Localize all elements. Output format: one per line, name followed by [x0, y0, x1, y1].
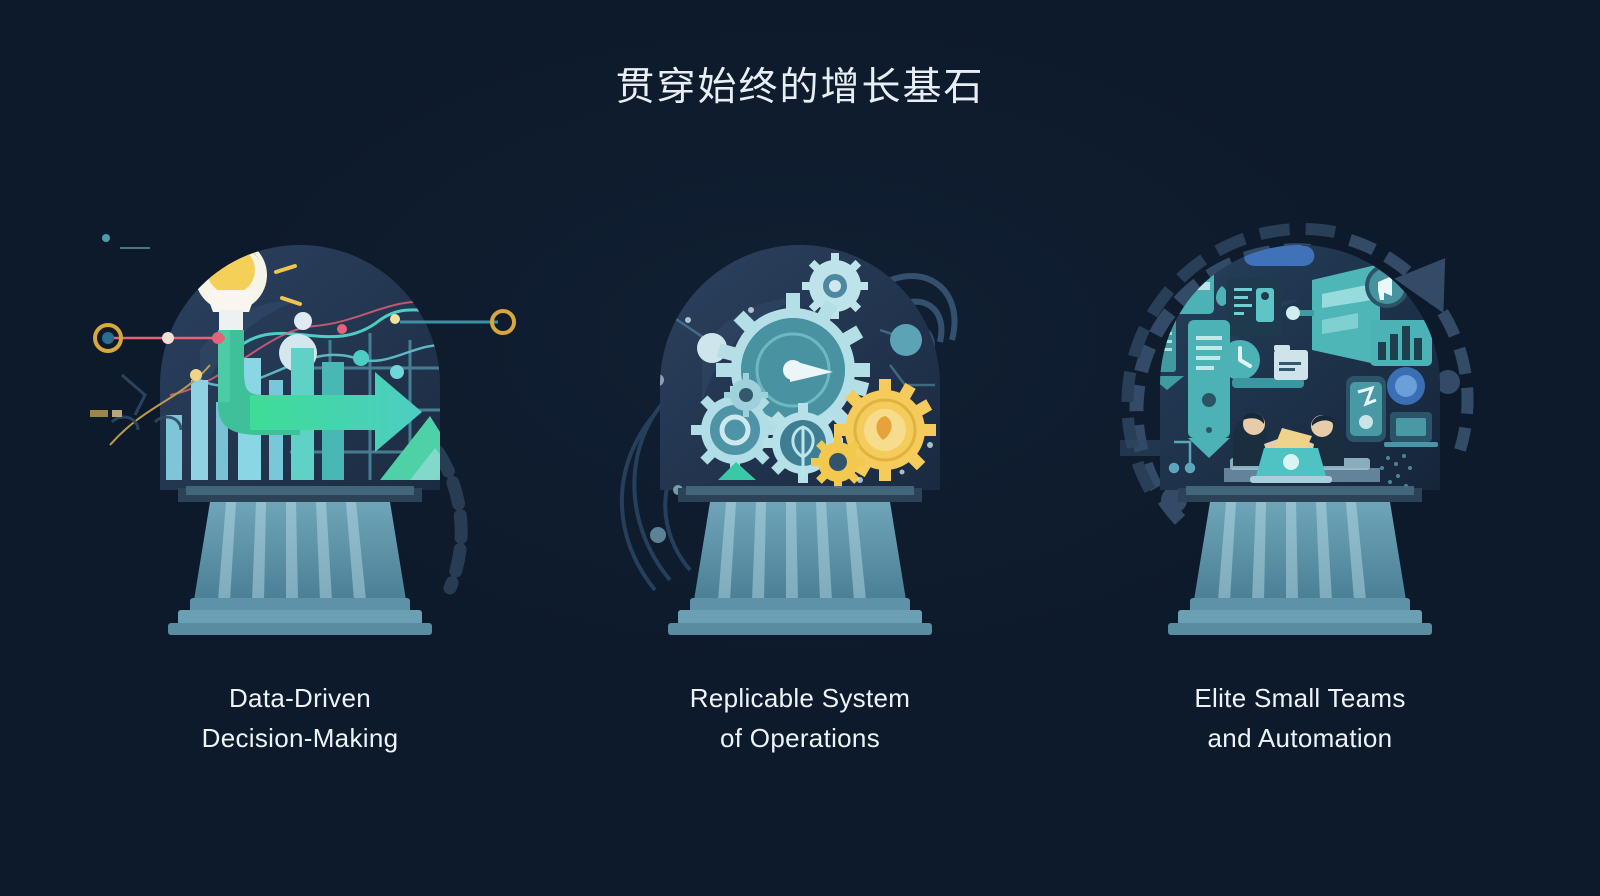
pedestal-column — [1168, 486, 1432, 635]
payment-card-icon — [1130, 248, 1228, 314]
caption-line-2: of Operations — [550, 718, 1050, 758]
caption-line-2: and Automation — [1050, 718, 1550, 758]
crystal-ball-team-automation-illustration — [1050, 190, 1550, 650]
caption-line-1: Replicable System — [690, 683, 910, 713]
node-dot — [890, 324, 922, 356]
page-title: 贯穿始终的增长基石 — [0, 68, 1600, 107]
card-caption-elite-small-teams: Elite Small Teams and Automation — [1050, 678, 1550, 758]
long-document-icon — [1188, 320, 1230, 458]
pedestal-column — [168, 486, 432, 635]
caption-line-1: Data-Driven — [229, 683, 371, 713]
card-replicable-system[interactable]: Replicable System of Operations — [550, 190, 1050, 790]
card-row: Data-Driven Decision-Making — [0, 190, 1600, 790]
bar-chart-icon — [1370, 320, 1432, 366]
phone-icon — [1346, 376, 1386, 442]
card-caption-data-driven: Data-Driven Decision-Making — [50, 678, 550, 758]
crystal-ball-analytics-illustration — [50, 190, 550, 650]
dashed-arc — [438, 452, 461, 588]
caption-line-1: Elite Small Teams — [1194, 683, 1405, 713]
crystal-ball-gears-illustration — [550, 190, 1050, 650]
folder-icon — [1274, 345, 1308, 380]
card-caption-replicable-system: Replicable System of Operations — [550, 678, 1050, 758]
slide-root: 贯穿始终的增长基石 — [0, 0, 1600, 896]
pedestal-column — [668, 486, 932, 635]
document-icon — [1226, 278, 1282, 336]
card-data-driven[interactable]: Data-Driven Decision-Making — [50, 190, 550, 790]
card-elite-small-teams[interactable]: Elite Small Teams and Automation — [1050, 190, 1550, 790]
caption-line-2: Decision-Making — [50, 718, 550, 758]
